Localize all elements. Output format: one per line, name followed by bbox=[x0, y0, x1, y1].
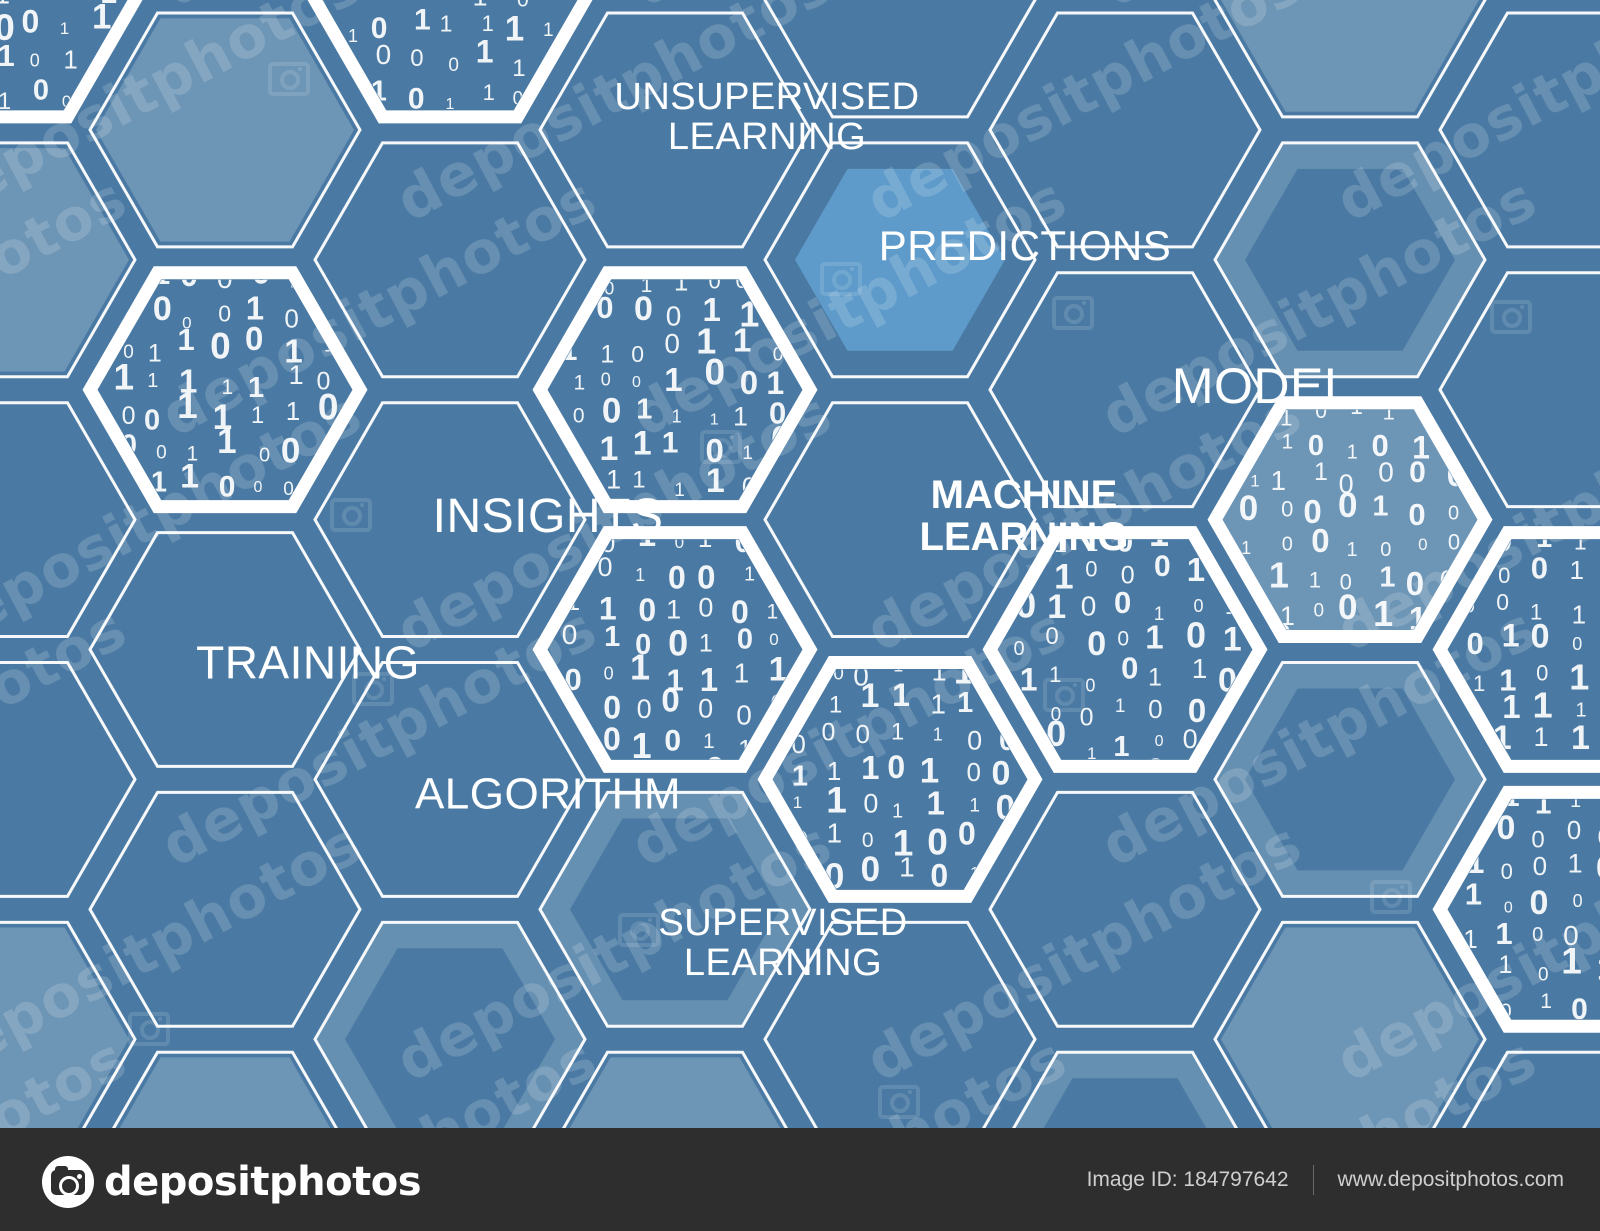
svg-text:0: 0 bbox=[346, 0, 363, 2]
svg-text:1: 1 bbox=[632, 467, 645, 494]
svg-text:0: 0 bbox=[1448, 530, 1460, 555]
svg-text:1: 1 bbox=[289, 360, 304, 390]
svg-text:0: 0 bbox=[638, 592, 656, 628]
svg-text:1: 1 bbox=[792, 760, 808, 792]
svg-text:1: 1 bbox=[861, 749, 879, 786]
svg-text:1: 1 bbox=[604, 621, 620, 653]
svg-text:0: 0 bbox=[1013, 638, 1024, 660]
svg-text:1: 1 bbox=[674, 480, 685, 501]
svg-text:1: 1 bbox=[1309, 567, 1321, 592]
svg-text:0: 0 bbox=[1531, 617, 1550, 655]
svg-text:0: 0 bbox=[153, 290, 172, 328]
svg-text:1: 1 bbox=[892, 677, 910, 713]
svg-text:0: 0 bbox=[887, 749, 905, 785]
svg-text:0: 0 bbox=[1117, 628, 1129, 651]
svg-text:1: 1 bbox=[742, 443, 753, 464]
svg-text:1: 1 bbox=[1465, 877, 1482, 912]
svg-text:0: 0 bbox=[822, 719, 836, 747]
svg-text:0: 0 bbox=[144, 405, 160, 437]
svg-text:0: 0 bbox=[737, 623, 753, 655]
svg-text:0: 0 bbox=[1408, 497, 1425, 532]
svg-text:0: 0 bbox=[1406, 565, 1424, 602]
svg-text:1: 1 bbox=[826, 779, 847, 820]
svg-text:1: 1 bbox=[476, 33, 494, 69]
svg-text:0: 0 bbox=[259, 445, 270, 467]
svg-text:1: 1 bbox=[1271, 465, 1287, 496]
svg-text:0: 0 bbox=[1155, 733, 1164, 750]
svg-text:0: 0 bbox=[668, 559, 686, 595]
svg-text:0: 0 bbox=[740, 364, 758, 401]
svg-text:0: 0 bbox=[861, 850, 880, 889]
svg-text:0: 0 bbox=[1538, 964, 1549, 985]
svg-text:0: 0 bbox=[705, 352, 726, 393]
svg-text:0: 0 bbox=[1418, 535, 1427, 554]
svg-text:0: 0 bbox=[284, 304, 298, 334]
svg-text:1: 1 bbox=[0, 38, 15, 73]
svg-text:0: 0 bbox=[1314, 600, 1325, 621]
svg-text:1: 1 bbox=[1269, 555, 1289, 596]
svg-text:0: 0 bbox=[448, 55, 459, 76]
svg-text:0: 0 bbox=[562, 619, 578, 650]
svg-text:1: 1 bbox=[1499, 951, 1513, 979]
svg-text:1: 1 bbox=[899, 851, 915, 882]
svg-text:0: 0 bbox=[668, 623, 688, 664]
svg-text:0: 0 bbox=[219, 470, 236, 503]
svg-text:1: 1 bbox=[861, 677, 880, 715]
svg-text:0: 0 bbox=[1496, 589, 1509, 615]
svg-text:0: 0 bbox=[544, 0, 562, 4]
svg-text:1: 1 bbox=[251, 402, 264, 429]
svg-text:0: 0 bbox=[992, 754, 1011, 792]
svg-text:1: 1 bbox=[633, 425, 652, 463]
svg-text:1: 1 bbox=[1533, 684, 1553, 725]
svg-text:0: 0 bbox=[664, 328, 680, 359]
svg-text:0: 0 bbox=[634, 290, 653, 328]
svg-text:1: 1 bbox=[1379, 562, 1395, 594]
svg-text:1: 1 bbox=[662, 427, 679, 460]
svg-text:0: 0 bbox=[930, 857, 948, 893]
svg-text:1: 1 bbox=[221, 376, 233, 399]
svg-text:0: 0 bbox=[1148, 694, 1162, 724]
svg-text:1: 1 bbox=[1373, 593, 1393, 634]
svg-text:0: 0 bbox=[1466, 626, 1483, 661]
svg-text:0: 0 bbox=[1045, 623, 1058, 650]
svg-text:0: 0 bbox=[1239, 489, 1258, 528]
svg-text:0: 0 bbox=[863, 789, 878, 819]
svg-text:1: 1 bbox=[636, 394, 652, 426]
svg-text:0: 0 bbox=[698, 693, 713, 723]
svg-text:1: 1 bbox=[606, 464, 621, 494]
svg-text:1: 1 bbox=[1372, 490, 1388, 522]
svg-text:0: 0 bbox=[1596, 850, 1600, 886]
svg-text:0: 0 bbox=[245, 320, 263, 357]
svg-text:1: 1 bbox=[666, 595, 681, 625]
svg-text:1: 1 bbox=[177, 385, 198, 426]
svg-text:0: 0 bbox=[33, 75, 49, 107]
svg-text:1: 1 bbox=[1347, 442, 1358, 464]
website-link[interactable]: www.depositphotos.com bbox=[1338, 1168, 1564, 1192]
svg-text:1: 1 bbox=[664, 361, 682, 398]
footer-divider bbox=[1313, 1165, 1314, 1195]
svg-text:0: 0 bbox=[602, 392, 621, 431]
svg-text:0: 0 bbox=[601, 370, 611, 390]
svg-text:0: 0 bbox=[1338, 588, 1357, 627]
svg-text:1: 1 bbox=[114, 357, 135, 398]
svg-text:0: 0 bbox=[1501, 859, 1513, 884]
svg-text:1: 1 bbox=[1148, 664, 1162, 692]
svg-text:0: 0 bbox=[664, 724, 681, 757]
svg-text:1: 1 bbox=[1115, 696, 1126, 717]
svg-text:0: 0 bbox=[1085, 676, 1095, 696]
hexagon-grid-svg: 0010001110001001010000110110111000101101… bbox=[0, 0, 1600, 1128]
svg-text:0: 0 bbox=[122, 402, 136, 430]
svg-text:1: 1 bbox=[512, 55, 525, 82]
svg-text:1: 1 bbox=[483, 80, 495, 105]
svg-text:1: 1 bbox=[969, 796, 980, 817]
svg-text:0: 0 bbox=[1085, 557, 1097, 582]
svg-text:1: 1 bbox=[286, 396, 300, 426]
svg-text:0: 0 bbox=[967, 725, 982, 755]
svg-text:0: 0 bbox=[573, 404, 585, 427]
svg-text:0: 0 bbox=[1281, 496, 1293, 521]
svg-text:1: 1 bbox=[957, 687, 973, 719]
svg-text:0: 0 bbox=[1531, 551, 1548, 586]
svg-text:0: 0 bbox=[281, 431, 300, 470]
svg-text:1: 1 bbox=[793, 793, 802, 812]
svg-text:1: 1 bbox=[827, 818, 843, 849]
svg-text:0: 0 bbox=[1282, 533, 1293, 555]
svg-text:1: 1 bbox=[630, 647, 650, 688]
svg-text:0: 0 bbox=[1378, 456, 1394, 487]
svg-text:1: 1 bbox=[1113, 731, 1129, 763]
svg-text:1: 1 bbox=[1047, 588, 1066, 626]
svg-text:1: 1 bbox=[440, 10, 453, 36]
svg-text:1: 1 bbox=[891, 719, 904, 746]
svg-text:0: 0 bbox=[958, 815, 976, 851]
svg-text:1: 1 bbox=[1569, 656, 1589, 697]
brand-name: depositphotos bbox=[104, 1159, 421, 1205]
svg-text:0: 0 bbox=[1573, 891, 1583, 911]
svg-text:0: 0 bbox=[1448, 502, 1459, 524]
svg-text:0: 0 bbox=[1533, 851, 1547, 881]
svg-text:0: 0 bbox=[210, 325, 231, 366]
svg-text:0: 0 bbox=[666, 301, 682, 332]
camera-icon bbox=[42, 1156, 94, 1208]
svg-text:1: 1 bbox=[1502, 618, 1520, 654]
svg-text:0: 0 bbox=[1080, 704, 1094, 732]
svg-text:1: 1 bbox=[706, 462, 725, 500]
svg-text:0: 0 bbox=[661, 682, 679, 719]
svg-text:1: 1 bbox=[147, 370, 158, 392]
svg-text:1: 1 bbox=[599, 430, 618, 468]
artwork-canvas: 0010001110001001010000110110111000101101… bbox=[0, 0, 1600, 1128]
svg-text:1: 1 bbox=[600, 340, 614, 368]
svg-text:0: 0 bbox=[1409, 456, 1426, 489]
svg-text:1: 1 bbox=[177, 322, 194, 357]
svg-text:0: 0 bbox=[862, 829, 874, 852]
svg-text:1: 1 bbox=[710, 412, 719, 429]
svg-text:0: 0 bbox=[22, 4, 40, 40]
svg-text:0: 0 bbox=[1532, 924, 1543, 946]
svg-text:1: 1 bbox=[543, 20, 554, 41]
image-id-label: Image ID: 184797642 bbox=[1087, 1168, 1289, 1192]
svg-text:0: 0 bbox=[631, 341, 644, 367]
svg-text:0: 0 bbox=[1498, 563, 1510, 588]
svg-text:0: 0 bbox=[698, 592, 713, 622]
svg-text:1: 1 bbox=[733, 402, 748, 432]
svg-text:1: 1 bbox=[63, 45, 77, 75]
svg-text:1: 1 bbox=[1346, 539, 1357, 561]
svg-text:0: 0 bbox=[376, 39, 392, 70]
svg-text:1: 1 bbox=[635, 565, 645, 585]
svg-text:0: 0 bbox=[381, 0, 393, 5]
svg-text:0: 0 bbox=[1567, 815, 1581, 845]
svg-text:1: 1 bbox=[1540, 990, 1552, 1013]
svg-text:0: 0 bbox=[632, 374, 641, 391]
depositphotos-footer: depositphotos Image ID: 184797642 www.de… bbox=[0, 1128, 1600, 1231]
svg-text:0: 0 bbox=[1572, 634, 1582, 654]
svg-text:1: 1 bbox=[348, 26, 358, 46]
svg-text:1: 1 bbox=[1571, 719, 1590, 757]
svg-text:1: 1 bbox=[148, 340, 162, 368]
svg-text:0: 0 bbox=[1380, 539, 1391, 561]
svg-text:1: 1 bbox=[927, 785, 945, 822]
svg-text:0: 0 bbox=[1504, 899, 1513, 916]
svg-text:1: 1 bbox=[672, 407, 682, 427]
svg-text:0: 0 bbox=[254, 479, 263, 496]
svg-text:1: 1 bbox=[61, 0, 71, 3]
svg-text:0: 0 bbox=[156, 443, 167, 464]
svg-text:0: 0 bbox=[1311, 522, 1329, 559]
svg-text:0: 0 bbox=[1338, 486, 1357, 525]
svg-text:0: 0 bbox=[966, 757, 980, 787]
svg-text:0: 0 bbox=[1114, 585, 1131, 620]
svg-text:1: 1 bbox=[92, 0, 111, 37]
svg-text:1: 1 bbox=[930, 689, 946, 720]
svg-text:0: 0 bbox=[855, 719, 869, 749]
svg-text:1: 1 bbox=[574, 372, 586, 395]
svg-text:0: 0 bbox=[736, 699, 752, 730]
svg-text:1: 1 bbox=[180, 457, 199, 495]
svg-text:0: 0 bbox=[1530, 884, 1549, 922]
svg-text:0: 0 bbox=[218, 301, 231, 327]
svg-text:0: 0 bbox=[769, 630, 778, 649]
svg-text:0: 0 bbox=[30, 50, 40, 70]
svg-text:1: 1 bbox=[1495, 916, 1512, 951]
svg-text:1: 1 bbox=[1281, 431, 1293, 454]
svg-text:1: 1 bbox=[1569, 555, 1583, 585]
screenshot-root: 0010001110001001010000110110111000101101… bbox=[0, 0, 1600, 1231]
svg-text:0: 0 bbox=[697, 558, 715, 595]
svg-text:1: 1 bbox=[60, 19, 69, 38]
svg-text:1: 1 bbox=[217, 422, 236, 461]
svg-text:0: 0 bbox=[604, 664, 614, 684]
svg-text:0: 0 bbox=[1154, 550, 1171, 583]
svg-text:0: 0 bbox=[1536, 661, 1548, 686]
svg-text:1: 1 bbox=[1572, 599, 1586, 629]
svg-text:0: 0 bbox=[1081, 590, 1097, 621]
svg-text:0: 0 bbox=[637, 694, 652, 724]
svg-text:0: 0 bbox=[1193, 596, 1203, 616]
svg-text:1: 1 bbox=[699, 629, 713, 657]
svg-text:1: 1 bbox=[1192, 653, 1208, 684]
svg-text:1: 1 bbox=[414, 4, 431, 37]
svg-text:1: 1 bbox=[248, 372, 264, 404]
svg-text:1: 1 bbox=[829, 692, 842, 719]
svg-text:1: 1 bbox=[892, 801, 903, 823]
svg-text:1: 1 bbox=[1568, 849, 1583, 879]
svg-text:1: 1 bbox=[933, 724, 943, 744]
svg-text:1: 1 bbox=[1250, 472, 1259, 491]
svg-text:1: 1 bbox=[1561, 940, 1582, 981]
svg-text:1: 1 bbox=[1314, 458, 1328, 486]
svg-text:1: 1 bbox=[1533, 722, 1548, 752]
svg-text:1: 1 bbox=[744, 563, 755, 585]
svg-text:1: 1 bbox=[733, 321, 751, 358]
svg-text:1: 1 bbox=[1049, 662, 1061, 687]
svg-text:1: 1 bbox=[1145, 618, 1163, 655]
svg-text:0: 0 bbox=[1531, 827, 1544, 854]
svg-text:0: 0 bbox=[1186, 615, 1206, 656]
svg-text:1: 1 bbox=[482, 11, 494, 36]
svg-text:0: 0 bbox=[410, 45, 423, 72]
depositphotos-logo: depositphotos bbox=[42, 1156, 421, 1208]
svg-text:0: 0 bbox=[1121, 650, 1138, 685]
svg-text:1: 1 bbox=[734, 657, 750, 688]
footer-meta: Image ID: 184797642 www.depositphotos.co… bbox=[1087, 1128, 1564, 1231]
svg-text:1: 1 bbox=[505, 9, 524, 48]
svg-text:0: 0 bbox=[1087, 625, 1106, 663]
